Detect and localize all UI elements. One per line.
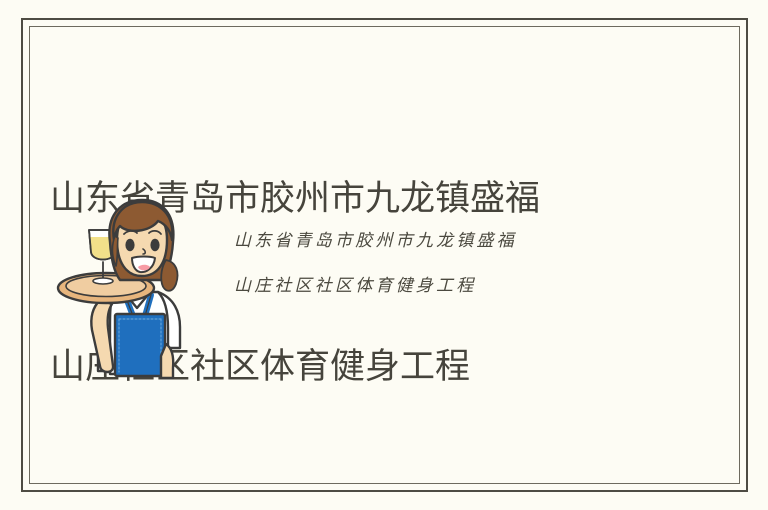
handwritten-caption: 山东省青岛市胶州市九龙镇盛福 山庄社区社区体育健身工程 xyxy=(234,219,694,309)
waitress-illustration xyxy=(54,196,214,381)
caption-line-2: 山庄社区社区体育健身工程 xyxy=(234,264,694,309)
card-content: 山东省青岛市胶州市九龙镇盛福 山庄社区社区体育健身工程 xyxy=(0,0,768,510)
caption-line-1: 山东省青岛市胶州市九龙镇盛福 xyxy=(234,219,694,264)
info-card: 山东省青岛市胶州市九龙镇盛福 山庄社区社区体育健身工程 xyxy=(0,0,768,510)
